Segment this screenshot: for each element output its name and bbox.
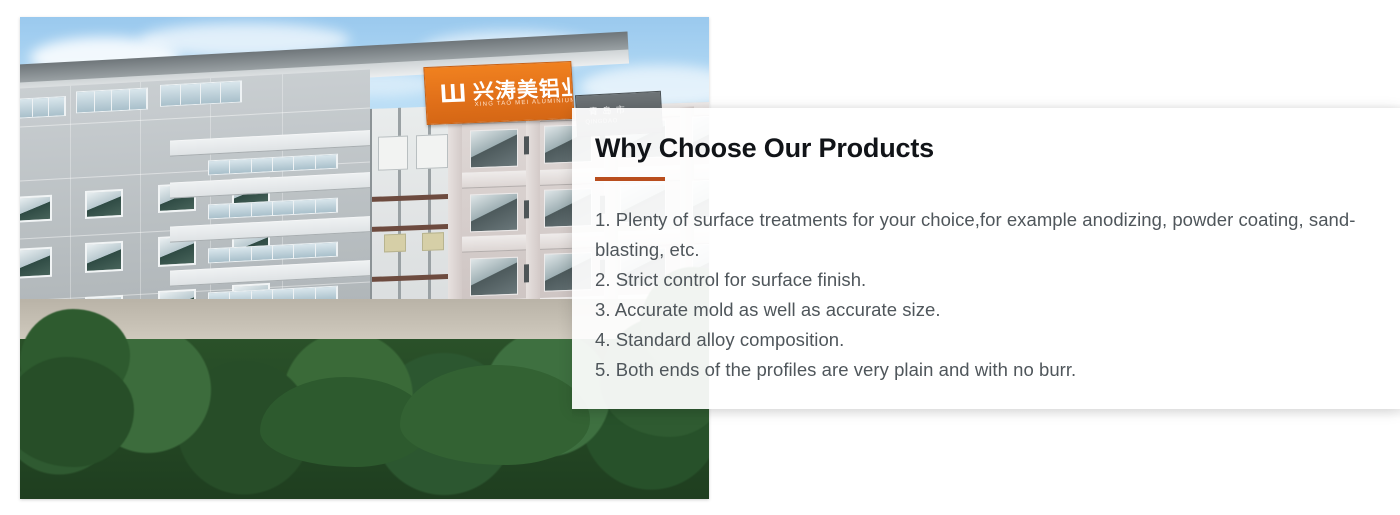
list-item: 5. Both ends of the profiles are very pl…: [595, 355, 1365, 385]
company-rooftop-sign: Ш 兴涛美铝业 XING TAO MEI ALUMINIUM: [423, 61, 574, 125]
benefits-list: 1. Plenty of surface treatments for your…: [595, 205, 1365, 385]
list-item: 2. Strict control for surface finish.: [595, 265, 1365, 295]
title-underline-accent: [595, 177, 665, 181]
list-item: 4. Standard alloy composition.: [595, 325, 1365, 355]
why-choose-section: Ш 兴涛美铝业 XING TAO MEI ALUMINIUM 青 岛 市 QIN…: [0, 0, 1400, 515]
card-content: Why Choose Our Products 1. Plenty of sur…: [572, 108, 1400, 409]
company-logo-icon: Ш: [439, 77, 468, 108]
card-bottom-shadow: [572, 409, 1400, 419]
page-title: Why Choose Our Products: [595, 131, 1400, 165]
list-item: 3. Accurate mold as well as accurate siz…: [595, 295, 1365, 325]
list-item: 1. Plenty of surface treatments for your…: [595, 205, 1365, 265]
